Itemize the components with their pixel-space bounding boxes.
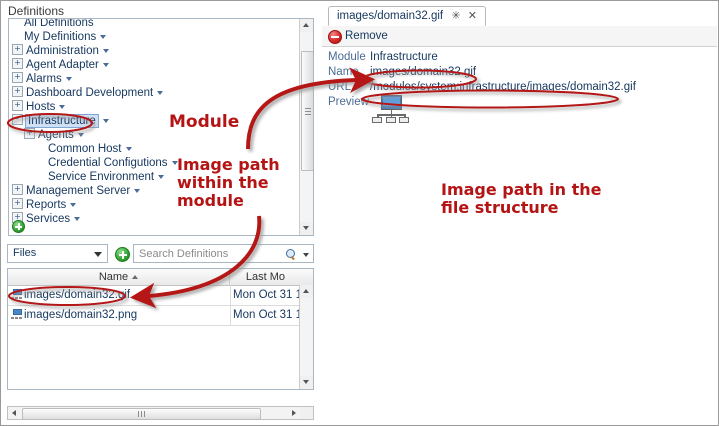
tree-item-agent-adapter[interactable]: +Agent Adapter (12, 58, 109, 72)
tree-item-reports[interactable]: +Reports (12, 198, 76, 212)
tree-box: All DefinitionsMy Definitions+Administra… (8, 18, 314, 236)
chevron-down-icon[interactable] (103, 63, 109, 67)
expand-icon[interactable]: + (12, 72, 23, 83)
files-toolbar: Files Search Definitions (7, 244, 314, 263)
tree-item-label: Service Environment (48, 170, 154, 184)
tree-item-label: Reports (26, 198, 66, 212)
tree-item-label: Infrastructure (25, 114, 99, 128)
filter-type-combobox[interactable]: Files (7, 244, 108, 263)
tree-item-service-environment[interactable]: Service Environment (36, 170, 164, 184)
expand-icon[interactable]: + (24, 128, 35, 139)
tree-item-agents[interactable]: +Agents (24, 128, 84, 142)
expand-icon[interactable]: + (12, 58, 23, 69)
tree-item-label: Services (26, 212, 70, 226)
chevron-down-icon[interactable] (66, 77, 72, 81)
tree-item-label: All Definitions (24, 19, 94, 30)
scroll-up-arrow[interactable] (300, 19, 313, 32)
chevron-down-icon[interactable] (134, 189, 140, 193)
tree-item-label: Administration (26, 44, 99, 58)
tab-label: images/domain32.gif (337, 10, 443, 22)
chevron-down-icon[interactable] (103, 119, 109, 123)
tree-item-label: My Definitions (24, 30, 96, 44)
expand-icon[interactable]: + (12, 86, 23, 97)
chevron-down-icon[interactable] (100, 35, 106, 39)
search-placeholder: Search Definitions (139, 248, 228, 260)
tree-item-my-definitions[interactable]: My Definitions (12, 30, 106, 44)
expand-icon[interactable]: + (12, 100, 23, 111)
tree-vertical-scrollbar[interactable] (299, 19, 313, 235)
label-name: Name (328, 65, 368, 80)
filter-type-value: Files (13, 245, 36, 262)
chevron-down-icon[interactable] (103, 49, 109, 53)
search-icon[interactable] (286, 249, 297, 260)
tree-spacer-icon (12, 31, 21, 40)
tree-item-common-host[interactable]: Common Host (36, 142, 132, 156)
tree-item-infrastructure[interactable]: -Infrastructure (12, 114, 109, 128)
editor-panel: images/domain32.gif ✳ ✕ Remove Module In… (322, 2, 717, 424)
tree-item-label: Credential Configutions (48, 156, 168, 170)
remove-button-label: Remove (345, 30, 388, 42)
tree-item-all-definitions[interactable]: All Definitions (12, 19, 94, 30)
sort-ascending-icon (132, 275, 138, 279)
tab-images-domain32-gif[interactable]: images/domain32.gif ✳ ✕ (328, 6, 486, 26)
files-scroll-down-arrow[interactable] (300, 376, 313, 389)
value-name[interactable]: images/domain32.gif (370, 65, 476, 80)
expand-icon[interactable]: + (12, 44, 23, 55)
search-input[interactable]: Search Definitions (133, 244, 314, 263)
tree-item-management-server[interactable]: +Management Server (12, 184, 140, 198)
tree-item-label: Common Host (48, 142, 122, 156)
files-table-header: Name Last Mo (8, 269, 313, 286)
files-scroll-up-arrow[interactable] (300, 285, 313, 298)
tree-item-alarms[interactable]: +Alarms (12, 72, 72, 86)
file-name-cell: images/domain32.png (11, 305, 137, 325)
scroll-down-arrow[interactable] (300, 222, 313, 235)
tree-item-label: Hosts (26, 100, 55, 114)
chevron-down-icon[interactable] (74, 217, 80, 221)
application-window: Definitions All DefinitionsMy Definition… (0, 0, 719, 426)
files-vertical-scrollbar[interactable] (299, 285, 313, 389)
definition-form: Module Infrastructure Name images/domain… (322, 48, 717, 424)
network-domain-icon (370, 95, 412, 123)
network-domain-icon (11, 289, 22, 299)
label-module: Module (328, 50, 368, 65)
label-preview: Preview (328, 95, 368, 110)
table-row[interactable]: images/domain32.gifMon Oct 31 10: (8, 285, 313, 306)
tree-spacer-icon (12, 19, 21, 26)
scroll-right-arrow[interactable] (287, 407, 300, 419)
add-file-button[interactable] (115, 247, 130, 262)
tree-item-label: Agent Adapter (26, 58, 99, 72)
editor-toolbar: Remove (322, 26, 717, 47)
tree-item-label: Agents (38, 128, 74, 142)
table-row[interactable]: images/domain32.pngMon Oct 31 10: (8, 305, 313, 326)
tree-item-credential-configutions[interactable]: Credential Configutions (36, 156, 178, 170)
remove-icon (328, 30, 342, 44)
files-table: Name Last Mo images/domain32.gifMon Oct … (7, 268, 314, 390)
tree-item-label: Management Server (26, 184, 130, 198)
files-panel: Files Search Definitions Name Last Mo im… (2, 239, 320, 425)
search-options-chevron-icon[interactable] (303, 253, 309, 257)
scrollbar-corner (300, 407, 313, 419)
tree-scroll-area[interactable]: All DefinitionsMy Definitions+Administra… (9, 19, 300, 235)
value-url[interactable]: /modules/system:infrastructure/images/do… (370, 80, 636, 95)
chevron-down-icon[interactable] (78, 133, 84, 137)
column-divider (230, 285, 231, 305)
chevron-down-icon[interactable] (172, 161, 178, 165)
file-name-label: images/domain32.gif (24, 289, 130, 301)
chevron-down-icon[interactable] (158, 175, 164, 179)
chevron-down-icon[interactable] (59, 105, 65, 109)
label-url: URL (328, 80, 368, 95)
column-header-last-modified-label: Last Mo (246, 271, 285, 283)
column-divider (230, 305, 231, 325)
file-name-label: images/domain32.png (24, 309, 137, 321)
scrollbar-thumb[interactable] (301, 51, 314, 171)
chevron-down-icon (94, 252, 102, 257)
tree-item-label: Alarms (26, 72, 62, 86)
horizontal-scrollbar[interactable] (7, 406, 314, 420)
definitions-tree-panel: Definitions All DefinitionsMy Definition… (2, 2, 320, 238)
column-header-name[interactable]: Name (8, 269, 230, 285)
tree-spacer-icon (36, 157, 45, 166)
expand-icon[interactable]: + (12, 198, 23, 209)
add-definition-button[interactable] (12, 220, 25, 233)
close-icon[interactable]: ✕ (468, 10, 477, 22)
column-header-last-modified[interactable]: Last Mo (230, 269, 301, 285)
tree-spacer-icon (36, 171, 45, 180)
tree-item-dashboard-development[interactable]: +Dashboard Development (12, 86, 163, 100)
pin-icon[interactable]: ✳ (451, 10, 460, 22)
chevron-down-icon[interactable] (157, 91, 163, 95)
editor-tabstrip: images/domain32.gif ✳ ✕ (322, 6, 717, 27)
expand-icon[interactable]: + (12, 184, 23, 195)
file-name-cell: images/domain32.gif (11, 285, 130, 305)
tree-item-label: Dashboard Development (26, 86, 153, 100)
horizontal-scrollbar-thumb[interactable] (22, 408, 261, 420)
value-module: Infrastructure (370, 50, 438, 65)
scroll-left-arrow[interactable] (8, 407, 21, 419)
tree-item-administration[interactable]: +Administration (12, 44, 109, 58)
chevron-down-icon[interactable] (126, 147, 132, 151)
tree-spacer-icon (36, 143, 45, 152)
chevron-down-icon[interactable] (70, 203, 76, 207)
tree-item-hosts[interactable]: +Hosts (12, 100, 65, 114)
column-header-name-label: Name (99, 271, 128, 283)
network-domain-icon (11, 309, 22, 319)
remove-button[interactable]: Remove (328, 28, 388, 44)
collapse-icon[interactable]: - (12, 114, 23, 125)
